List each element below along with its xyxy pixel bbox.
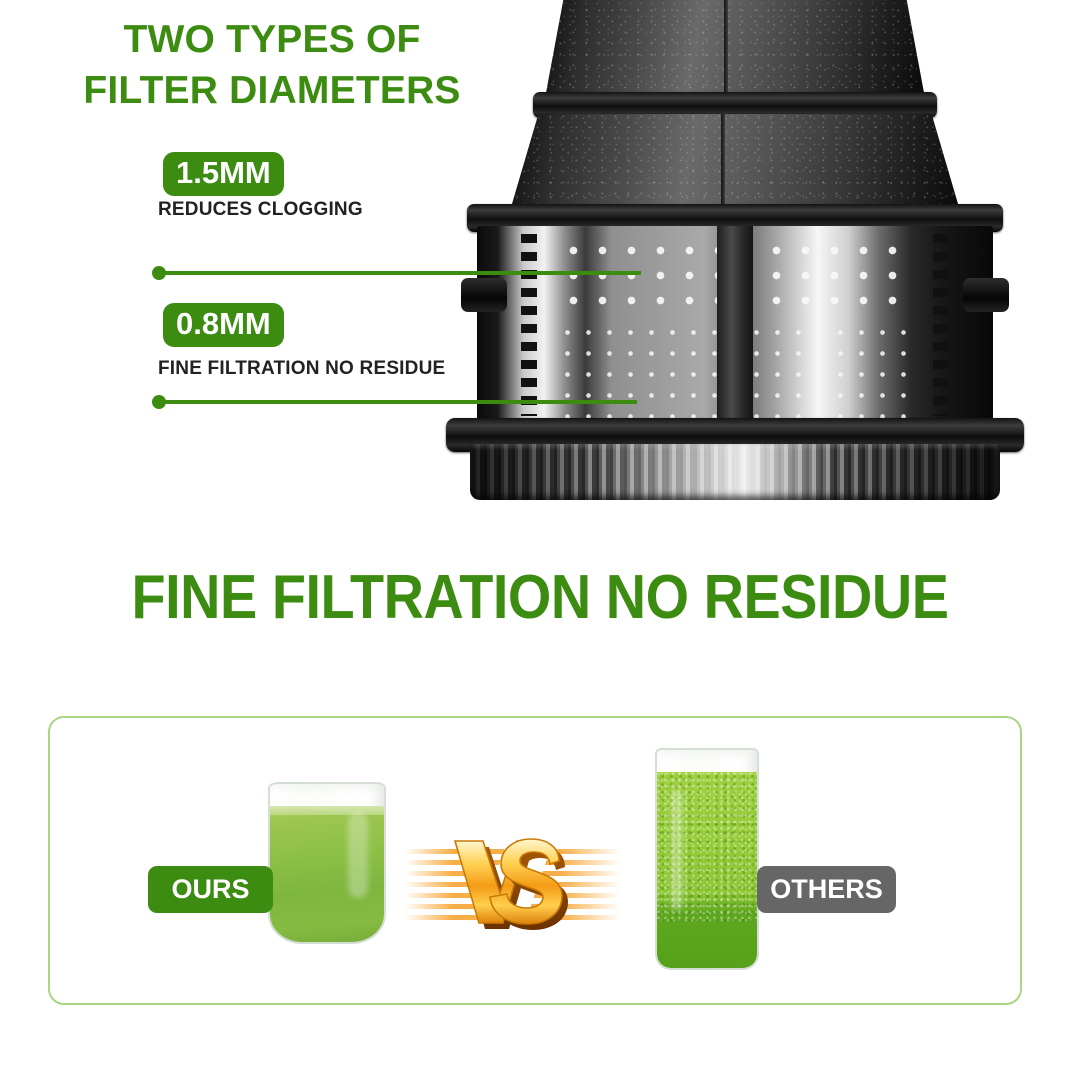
badge-others: OTHERS (757, 866, 896, 913)
page-title: TWO TYPES OF FILTER DIAMETERS (62, 14, 482, 117)
stainless-steel-base (470, 444, 1000, 500)
leader-line-0-8mm (159, 400, 637, 404)
drum-vent-left (521, 234, 537, 416)
hopper-upper-section (545, 0, 925, 98)
juicer-filter-product-image (415, 0, 1055, 506)
caption-reduces-clogging: REDUCES CLOGGING (158, 199, 363, 221)
main-headline: FINE FILTRATION NO RESIDUE (54, 562, 1026, 633)
hopper-rib-seam (721, 114, 725, 214)
perforated-filter-drum (477, 226, 993, 424)
caption-fine-filtration: FINE FILTRATION NO RESIDUE (158, 358, 445, 380)
drum-center-pillar (717, 226, 753, 424)
leader-line-1-5mm (159, 271, 641, 275)
infographic-page: TWO TYPES OF FILTER DIAMETERS 1.5MM REDU… (0, 0, 1080, 1080)
drum-knob-right (963, 278, 1009, 312)
header-line-2: FILTER DIAMETERS (62, 65, 482, 116)
badge-0-8mm: 0.8MM (163, 303, 284, 347)
badge-1-5mm: 1.5MM (163, 152, 284, 196)
drum-vent-right (933, 234, 949, 416)
vs-letters-icon (405, 833, 620, 941)
badge-ours: OURS (148, 866, 273, 913)
drum-knob-left (461, 278, 507, 312)
hopper-speckle-texture (509, 114, 961, 214)
hopper-rib-seam (724, 0, 728, 98)
hopper-speckle-texture (545, 0, 925, 98)
header-line-1: TWO TYPES OF (123, 18, 420, 61)
hopper-lower-section (509, 114, 961, 214)
vs-graphic (405, 833, 620, 941)
